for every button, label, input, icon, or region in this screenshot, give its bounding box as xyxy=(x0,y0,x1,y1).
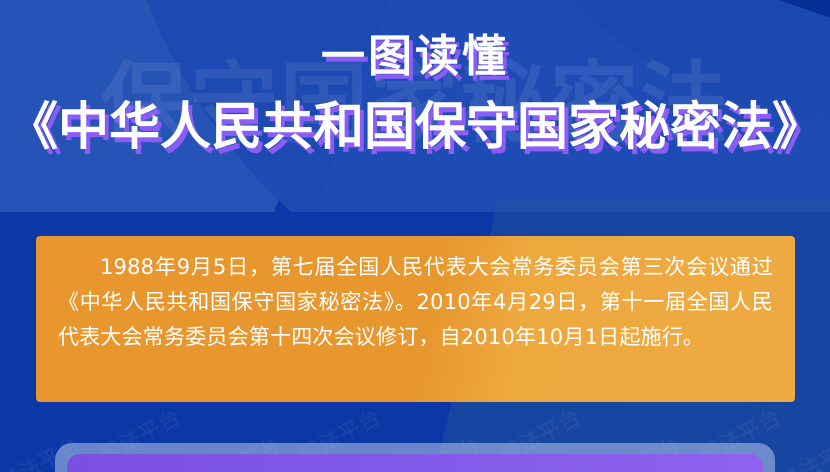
infographic-poster: 保守国家秘密法 普法平台 普法平台 普法平台 普法平台 普法平台 普法平台 普法… xyxy=(0,0,830,472)
bottom-section-panel-inner xyxy=(67,454,763,472)
poster-title: 《中华人民共和国保守国家秘密法》 xyxy=(0,100,830,155)
bottom-section-panel[interactable] xyxy=(55,443,775,472)
summary-card: 1988年9月5日，第七届全国人民代表大会常务委员会第三次会议通过《中华人民共和… xyxy=(36,236,795,402)
headline-block: 一图读懂 《中华人民共和国保守国家秘密法》 xyxy=(0,34,830,155)
poster-subtitle: 一图读懂 xyxy=(0,34,830,80)
summary-paragraph: 1988年9月5日，第七届全国人民代表大会常务委员会第三次会议通过《中华人民共和… xyxy=(58,250,773,355)
